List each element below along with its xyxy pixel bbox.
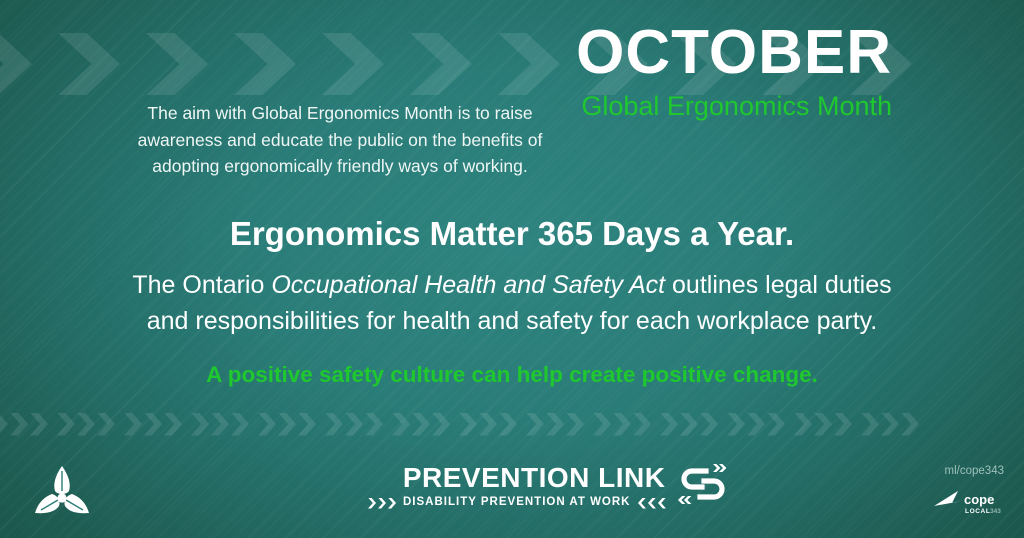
prevention-link-name: PREVENTION LINK	[403, 464, 666, 492]
chevron-right-icon	[57, 413, 75, 436]
chevron-right-icon	[325, 413, 343, 436]
main-body-line-1: The Ontario Occupational Health and Safe…	[60, 268, 964, 304]
bottom-chevron-band	[0, 412, 1024, 436]
chevron-group	[593, 413, 651, 436]
chevron-right-icon	[901, 413, 919, 436]
chevron-right-icon	[322, 33, 384, 95]
chain-link-icon	[678, 461, 728, 512]
chevron-right-icon	[459, 413, 477, 436]
prevention-link-tagline-row: DISABILITY PREVENTION AT WORK	[368, 497, 666, 509]
chevron-right-icon	[10, 413, 28, 436]
chevron-right-icon	[278, 413, 296, 436]
chevron-right-icon	[0, 33, 32, 95]
cope-arrow-icon: cope LOCAL 343	[932, 489, 1004, 517]
trillium-flower-icon	[28, 462, 96, 526]
chevron-group	[727, 413, 785, 436]
svg-text:cope: cope	[964, 492, 994, 507]
main-content: Ergonomics Matter 365 Days a Year. The O…	[0, 213, 1024, 391]
chevron-right-icon	[881, 413, 899, 436]
chevron-right-icon	[77, 413, 95, 436]
chevron-group	[794, 413, 852, 436]
chevron-right-icon	[164, 413, 182, 436]
svg-text:LOCAL: LOCAL	[965, 508, 990, 515]
chevron-right-icon	[499, 413, 517, 436]
chevron-right-icon	[593, 413, 611, 436]
chevron-right-icon	[0, 413, 8, 436]
chevron-right-icon	[747, 413, 765, 436]
chevron-right-icon	[30, 413, 48, 436]
body-prefix: The Ontario	[132, 271, 271, 299]
chevron-group	[861, 413, 919, 436]
chevron-group	[0, 413, 48, 436]
prevention-link-wordmark: PREVENTION LINK DISABILITY PREVENTION AT…	[368, 464, 666, 509]
page-title: OCTOBER	[432, 22, 892, 84]
chevron-group	[459, 413, 517, 436]
chevron-right-icon	[392, 413, 410, 436]
act-title: Occupational Health and Safety Act	[271, 271, 665, 299]
chevron-right-icon	[834, 413, 852, 436]
chevron-right-icon	[345, 413, 363, 436]
chevron-right-icon	[58, 33, 120, 95]
chevron-right-icon	[814, 413, 832, 436]
main-tagline: A positive safety culture can help creat…	[60, 359, 964, 391]
chevron-right-icon	[191, 413, 209, 436]
chevron-group	[325, 413, 383, 436]
prevention-link-tagline: DISABILITY PREVENTION AT WORK	[403, 497, 631, 509]
chevron-right-icon	[97, 413, 115, 436]
chevron-right-icon	[211, 413, 229, 436]
chevron-right-icon	[794, 413, 812, 436]
chevron-right-icon	[727, 413, 745, 436]
chevron-right-icon	[231, 413, 249, 436]
chevron-right-icon	[368, 498, 396, 509]
chevron-right-icon	[861, 413, 879, 436]
chevron-right-icon	[144, 413, 162, 436]
chevron-right-icon	[234, 33, 296, 95]
chevron-right-icon	[124, 413, 142, 436]
chevron-right-icon	[146, 33, 208, 95]
chevron-right-icon	[700, 413, 718, 436]
chevron-right-icon	[479, 413, 497, 436]
chevron-right-icon	[680, 413, 698, 436]
chevron-right-icon	[432, 413, 450, 436]
chevron-group	[660, 413, 718, 436]
chevron-group	[392, 413, 450, 436]
chevron-right-icon	[365, 413, 383, 436]
chevron-right-icon	[546, 413, 564, 436]
poster-canvas: OCTOBER Global Ergonomics Month The aim …	[0, 0, 1024, 538]
chevron-right-icon	[633, 413, 651, 436]
chevron-group	[124, 413, 182, 436]
chevron-group	[191, 413, 249, 436]
chevron-group	[526, 413, 584, 436]
cope-code-label: ml/cope343	[884, 466, 1004, 478]
chevron-group	[258, 413, 316, 436]
chevron-right-icon	[660, 413, 678, 436]
chevron-right-icon	[526, 413, 544, 436]
chevron-right-icon	[767, 413, 785, 436]
svg-text:343: 343	[990, 508, 1001, 515]
main-body-line-2: and responsibilities for health and safe…	[60, 304, 964, 340]
chevron-left-icon	[638, 498, 666, 509]
chevron-right-icon	[613, 413, 631, 436]
main-headline: Ergonomics Matter 365 Days a Year.	[60, 213, 964, 254]
chevron-right-icon	[298, 413, 316, 436]
prevention-link-logo: PREVENTION LINK DISABILITY PREVENTION AT…	[368, 461, 728, 512]
chevron-group	[57, 413, 115, 436]
chevron-right-icon	[566, 413, 584, 436]
chevron-right-icon	[412, 413, 430, 436]
chevron-right-icon	[258, 413, 276, 436]
body-suffix: outlines legal duties	[665, 271, 892, 299]
intro-paragraph: The aim with Global Ergonomics Month is …	[120, 100, 560, 180]
